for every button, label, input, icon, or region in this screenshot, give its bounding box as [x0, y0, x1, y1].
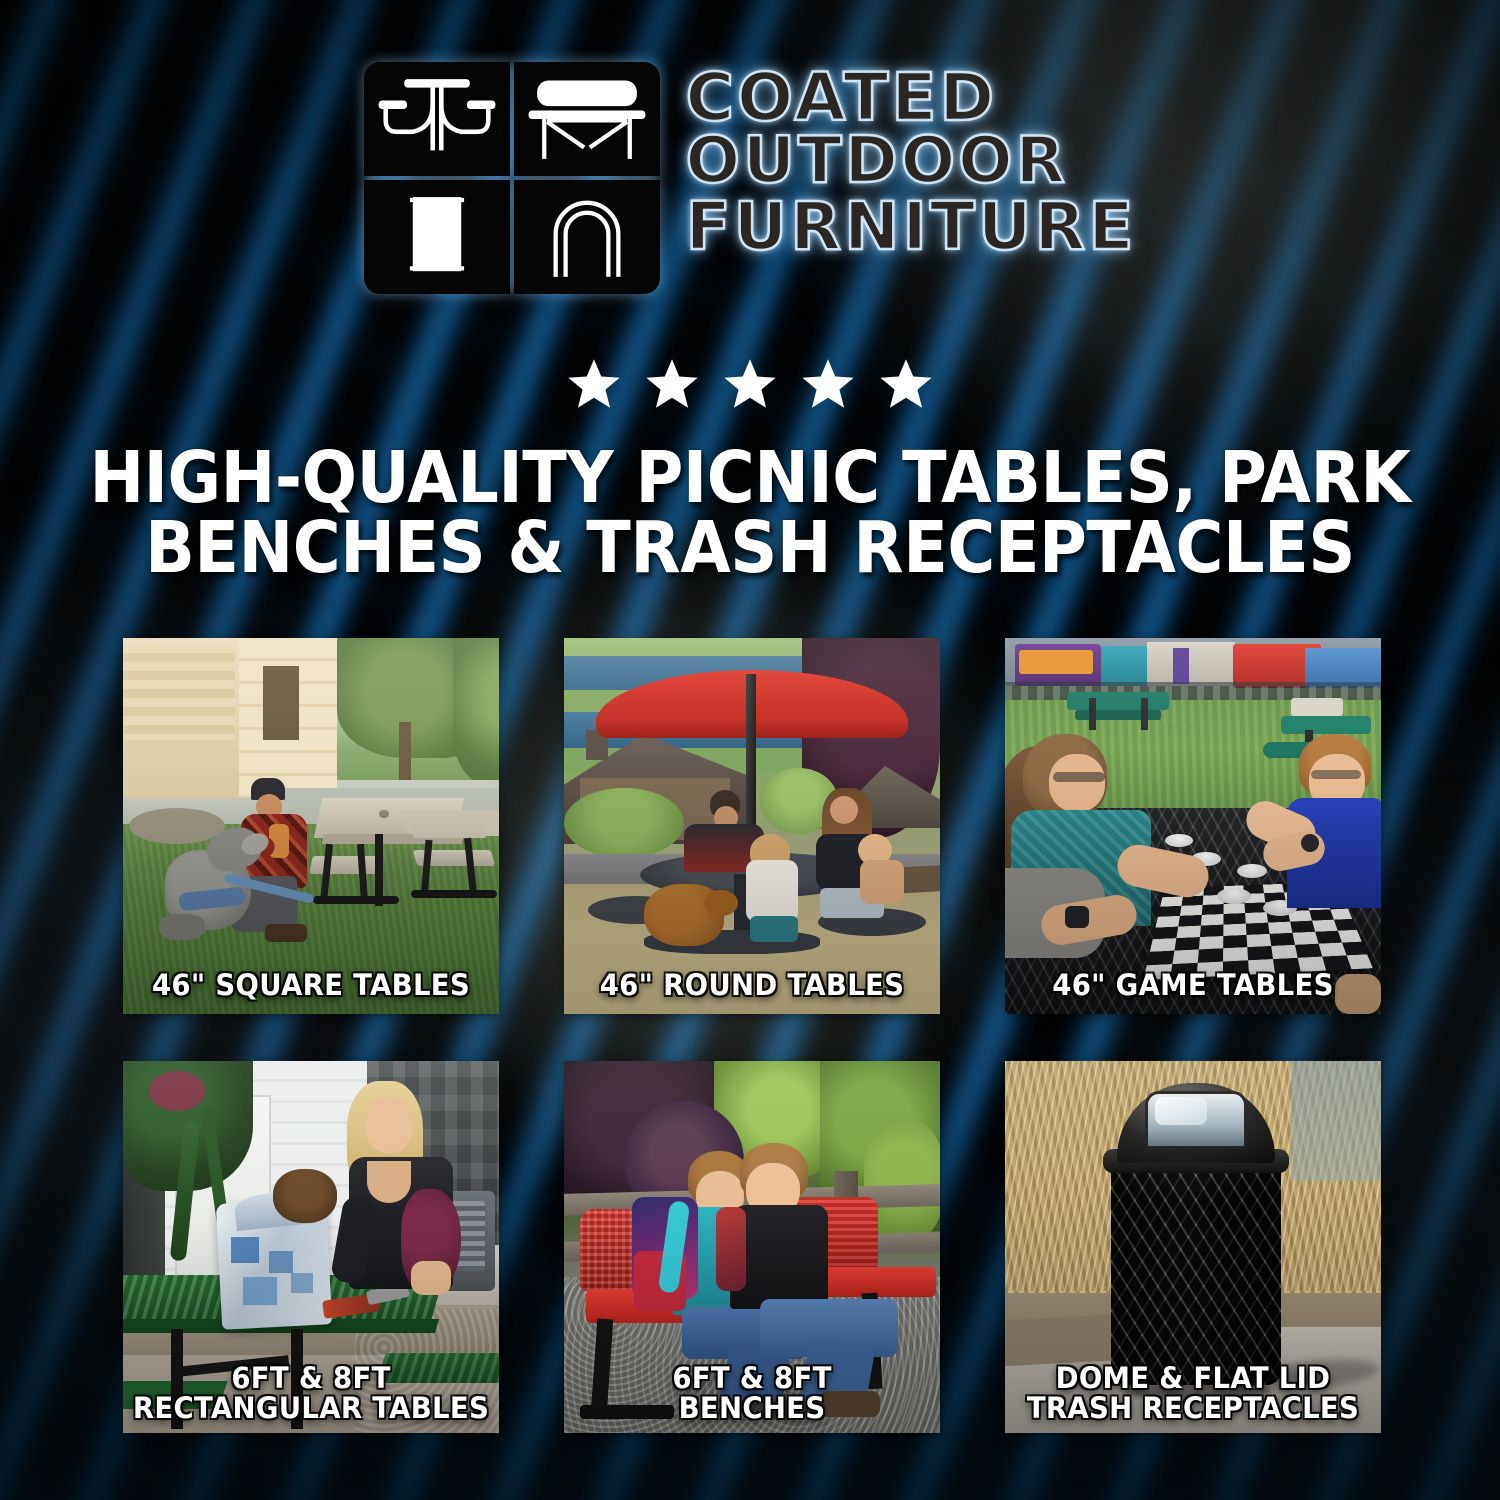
star-icon [644, 356, 700, 412]
product-tile-trash-receptacles[interactable]: DOME & FLAT LID TRASH RECEPTACLES [1005, 1061, 1381, 1433]
promo-graphic: COATED OUTDOOR FURNITURE HIGH-QUALITY PI… [0, 0, 1500, 1500]
caption-line: DOME & FLAT LID [1014, 1363, 1371, 1393]
product-tile-game-tables[interactable]: 46" GAME TABLES [1005, 638, 1381, 1014]
star-rating [0, 356, 1500, 412]
caption-line: 46" GAME TABLES [1014, 970, 1371, 1000]
caption-line: 46" SQUARE TABLES [132, 970, 489, 1000]
caption-line: TRASH RECEPTACLES [1014, 1393, 1371, 1423]
picnic-table-icon [364, 62, 510, 176]
caption-line: 6FT & 8FT [573, 1363, 930, 1393]
photo-game-tables [1005, 638, 1381, 1014]
product-tile-square-tables[interactable]: 46" SQUARE TABLES [123, 638, 499, 1014]
product-tile-rectangular-tables[interactable]: 6FT & 8FT RECTANGULAR TABLES [123, 1061, 499, 1433]
product-caption: 6FT & 8FT BENCHES [573, 1363, 930, 1423]
caption-line: 46" ROUND TABLES [573, 970, 930, 1000]
brand-word-furniture: FURNITURE [686, 195, 1137, 258]
headline: HIGH-QUALITY PICNIC TABLES, PARK BENCHES… [60, 443, 1440, 584]
star-icon [800, 356, 856, 412]
headline-line-1: HIGH-QUALITY PICNIC TABLES, PARK [60, 443, 1440, 513]
bike-rack-arch-icon [514, 180, 660, 294]
product-caption: 46" GAME TABLES [1014, 970, 1371, 1000]
trash-receptacle-icon [364, 180, 510, 294]
coated-outdoor-furniture-logo [364, 62, 660, 294]
brand-wordmark: COATED OUTDOOR FURNITURE [686, 62, 1137, 258]
product-tile-round-tables[interactable]: 46" ROUND TABLES [564, 638, 940, 1014]
brand-word-coated: COATED [686, 66, 1137, 129]
park-bench-icon [514, 62, 660, 176]
caption-line: BENCHES [573, 1393, 930, 1423]
product-caption: 6FT & 8FT RECTANGULAR TABLES [132, 1363, 489, 1423]
product-grid: 46" SQUARE TABLES [123, 638, 1381, 1433]
product-tile-benches[interactable]: 6FT & 8FT BENCHES [564, 1061, 940, 1433]
caption-line: RECTANGULAR TABLES [132, 1393, 489, 1423]
headline-line-2: BENCHES & TRASH RECEPTACLES [60, 513, 1440, 583]
star-icon [566, 356, 622, 412]
brand-header: COATED OUTDOOR FURNITURE [0, 62, 1500, 294]
brand-word-outdoor: OUTDOOR [686, 131, 1137, 192]
product-caption: 46" ROUND TABLES [573, 970, 930, 1000]
product-caption: DOME & FLAT LID TRASH RECEPTACLES [1014, 1363, 1371, 1423]
caption-line: 6FT & 8FT [132, 1363, 489, 1393]
star-icon [722, 356, 778, 412]
star-icon [878, 356, 934, 412]
photo-round-tables [564, 638, 940, 1014]
product-caption: 46" SQUARE TABLES [132, 970, 489, 1000]
photo-square-tables [123, 638, 499, 1014]
